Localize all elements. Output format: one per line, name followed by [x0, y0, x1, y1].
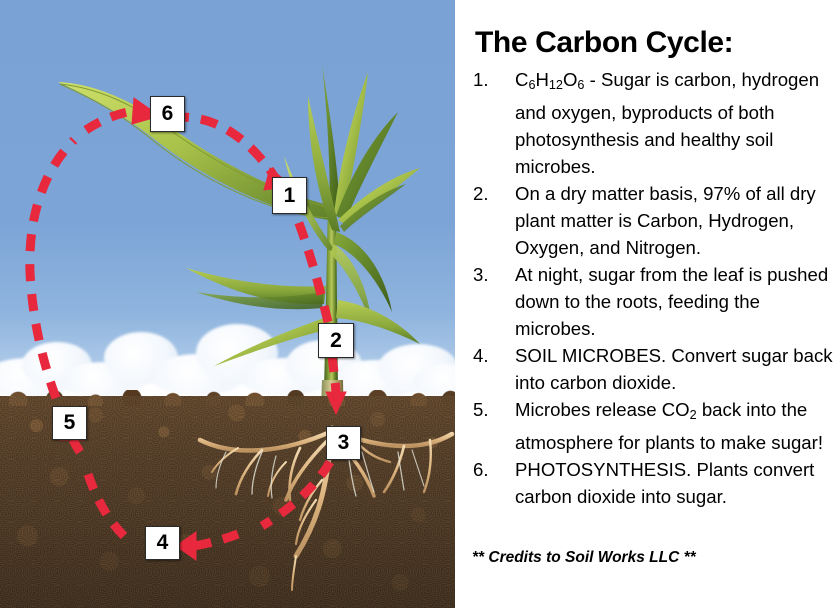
page-title: The Carbon Cycle:	[475, 26, 733, 60]
step-number: 4.	[473, 342, 503, 369]
step-text: PHOTOSYNTHESIS. Plants convert carbon di…	[515, 459, 814, 507]
text-run: C	[515, 69, 528, 90]
text-panel: The Carbon Cycle: 1.C6H12O6 - Sugar is c…	[455, 0, 840, 608]
step-item: 5.Microbes release CO2 back into the atm…	[493, 396, 836, 456]
marker-label: 5	[64, 411, 76, 435]
step-text: Microbes release CO2 back into the atmos…	[515, 399, 823, 453]
infographic-root: 6 1 2 3 5 4 The Carbon Cycle: 1.C6H12O6 …	[0, 0, 840, 608]
marker-label: 3	[338, 431, 350, 455]
step-item: 4.SOIL MICROBES. Convert sugar back into…	[493, 342, 836, 396]
step-item: 6.PHOTOSYNTHESIS. Plants convert carbon …	[493, 456, 836, 510]
step-text: SOIL MICROBES. Convert sugar back into c…	[515, 345, 833, 393]
text-run: SOIL MICROBES. Convert sugar back into c…	[515, 345, 833, 393]
step-number: 6.	[473, 456, 503, 483]
step-text: At night, sugar from the leaf is pushed …	[515, 264, 828, 339]
carbon-cycle-illustration: 6 1 2 3 5 4	[0, 0, 455, 608]
text-run: Microbes release CO	[515, 399, 690, 420]
diagram-marker-2[interactable]: 2	[318, 323, 354, 358]
text-run: On a dry matter basis, 97% of all dry pl…	[515, 183, 816, 258]
step-item: 3.At night, sugar from the leaf is pushe…	[493, 261, 836, 342]
diagram-marker-1[interactable]: 1	[272, 177, 307, 214]
subscript: 2	[690, 408, 697, 422]
step-number: 5.	[473, 396, 503, 423]
diagram-marker-4[interactable]: 4	[145, 526, 180, 560]
step-number: 3.	[473, 261, 503, 288]
step-item: 2.On a dry matter basis, 97% of all dry …	[493, 180, 836, 261]
text-run: PHOTOSYNTHESIS. Plants convert carbon di…	[515, 459, 814, 507]
diagram-marker-5[interactable]: 5	[52, 406, 87, 440]
subscript: 12	[549, 78, 563, 92]
marker-label: 1	[284, 184, 296, 208]
diagram-marker-6[interactable]: 6	[150, 96, 185, 132]
marker-label: 6	[162, 102, 174, 126]
step-text: On a dry matter basis, 97% of all dry pl…	[515, 183, 816, 258]
carbon-cycle-arrows	[0, 0, 455, 608]
credits-line: ** Credits to Soil Works LLC **	[472, 549, 696, 567]
step-number: 2.	[473, 180, 503, 207]
step-item: 1.C6H12O6 - Sugar is carbon, hydrogen an…	[493, 66, 836, 180]
marker-label: 2	[330, 329, 342, 353]
step-number: 1.	[473, 66, 503, 93]
text-run: H	[535, 69, 548, 90]
text-run: O	[563, 69, 577, 90]
carbon-cycle-steps-list: 1.C6H12O6 - Sugar is carbon, hydrogen an…	[465, 66, 836, 510]
step-text: C6H12O6 - Sugar is carbon, hydrogen and …	[515, 69, 819, 177]
marker-label: 4	[157, 531, 169, 555]
diagram-marker-3[interactable]: 3	[326, 426, 361, 460]
text-run: At night, sugar from the leaf is pushed …	[515, 264, 828, 339]
